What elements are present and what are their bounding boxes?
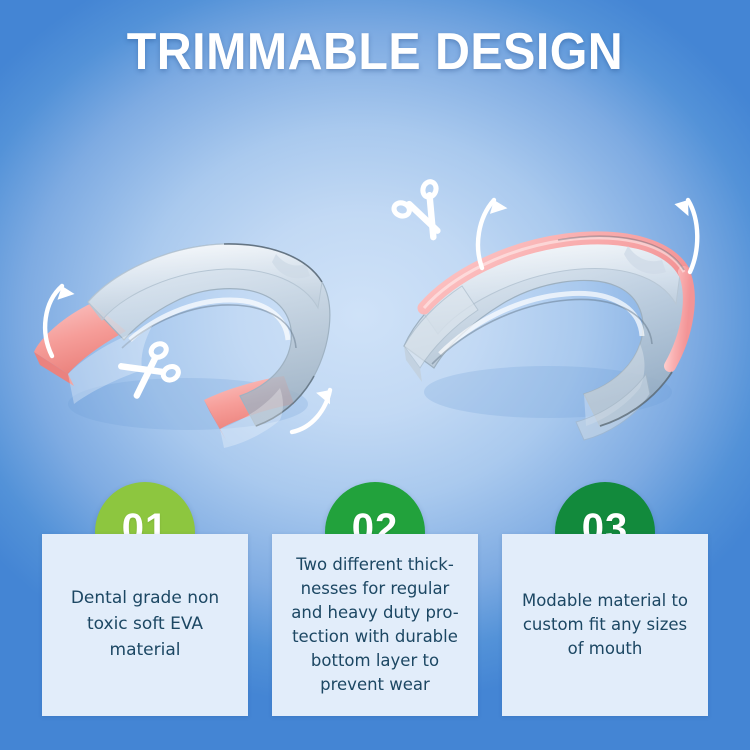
feature-card-03: Modable material tocustom fit any sizeso… [502,534,708,716]
mouthguard-pink-rim-illustration [378,178,718,478]
mouthguard-pink-ends-illustration [18,190,358,490]
feature-item-02: 02 Two different thick-nesses for regula… [272,470,478,720]
feature-list: 01 Dental grade nontoxic soft EVAmateria… [0,470,750,750]
feature-item-03: 03 Modable material tocustom fit any siz… [502,470,708,720]
scissors-icon [389,173,451,237]
feature-text-02: Two different thick-nesses for regularan… [281,553,468,697]
page-title: TRIMMABLE DESIGN [26,22,724,82]
feature-card-01: Dental grade nontoxic soft EVAmaterial [42,534,248,716]
product-image-left [18,190,358,490]
feature-text-01: Dental grade nontoxic soft EVAmaterial [61,586,229,663]
feature-item-01: 01 Dental grade nontoxic soft EVAmateria… [42,470,248,720]
product-image-stage [0,150,750,470]
product-image-right [378,178,718,478]
feature-text-03: Modable material tocustom fit any sizeso… [512,589,698,661]
feature-card-02: Two different thick-nesses for regularan… [272,534,478,716]
product-infographic: TRIMMABLE DESIGN [0,0,750,750]
